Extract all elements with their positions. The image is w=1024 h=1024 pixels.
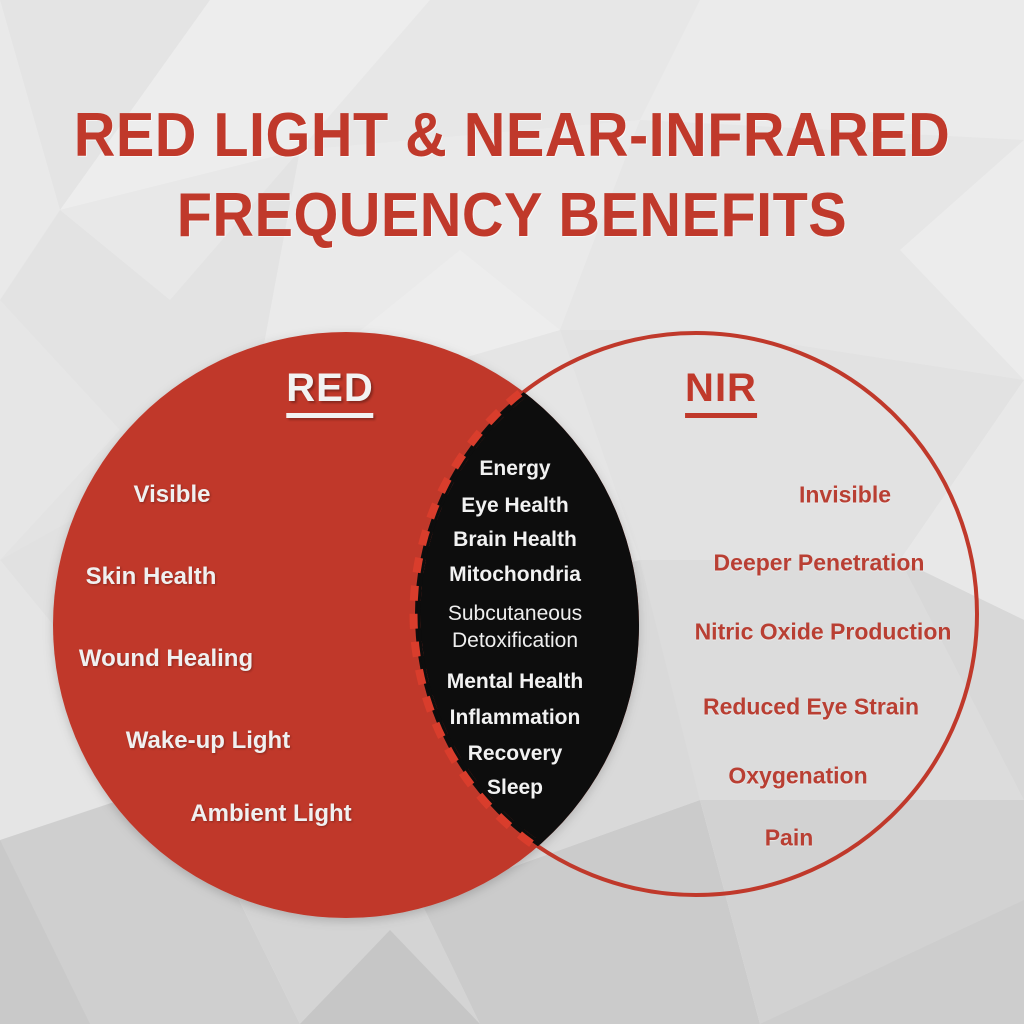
venn-shared-item-mitochondria: Mitochondria bbox=[449, 563, 581, 587]
venn-right-item-nitric-oxide-production: Nitric Oxide Production bbox=[695, 619, 952, 646]
venn-right-item-invisible: Invisible bbox=[799, 482, 891, 509]
venn-shared-item-energy: Energy bbox=[479, 457, 550, 481]
venn-heading-red: RED bbox=[286, 366, 373, 418]
venn-shared-item-mental-health: Mental Health bbox=[447, 670, 584, 694]
venn-heading-nir-underline bbox=[685, 413, 757, 418]
venn-shared-item-detoxification: Detoxification bbox=[452, 629, 578, 653]
title-line-1: RED LIGHT & NEAR-INFRARED bbox=[36, 96, 988, 176]
venn-shared-item-eye-health: Eye Health bbox=[461, 494, 568, 518]
venn-heading-nir-label: NIR bbox=[685, 366, 757, 410]
venn-shared-item-subcutaneous: Subcutaneous bbox=[448, 602, 582, 626]
venn-shared-item-inflammation: Inflammation bbox=[450, 706, 581, 730]
venn-right-item-deeper-penetration: Deeper Penetration bbox=[714, 550, 925, 577]
venn-heading-red-underline bbox=[286, 413, 373, 418]
page-title: RED LIGHT & NEAR-INFRARED FREQUENCY BENE… bbox=[0, 96, 1024, 256]
venn-heading-nir: NIR bbox=[685, 366, 757, 418]
title-line-2: FREQUENCY BENEFITS bbox=[36, 176, 988, 256]
venn-heading-red-label: RED bbox=[286, 366, 373, 410]
venn-left-item-visible: Visible bbox=[134, 481, 211, 509]
venn-shared-item-sleep: Sleep bbox=[487, 776, 543, 800]
infographic-canvas: RED LIGHT & NEAR-INFRARED FREQUENCY BENE… bbox=[0, 0, 1024, 1024]
venn-shared-item-recovery: Recovery bbox=[468, 742, 563, 766]
venn-right-item-oxygenation: Oxygenation bbox=[728, 763, 867, 790]
venn-left-item-ambient-light: Ambient Light bbox=[190, 800, 351, 828]
venn-left-item-skin-health: Skin Health bbox=[86, 563, 217, 591]
venn-right-item-reduced-eye-strain: Reduced Eye Strain bbox=[703, 694, 919, 721]
venn-right-item-pain: Pain bbox=[765, 825, 814, 852]
venn-left-item-wound-healing: Wound Healing bbox=[79, 645, 253, 673]
venn-left-item-wake-up-light: Wake-up Light bbox=[126, 727, 290, 755]
venn-shared-item-brain-health: Brain Health bbox=[453, 528, 577, 552]
